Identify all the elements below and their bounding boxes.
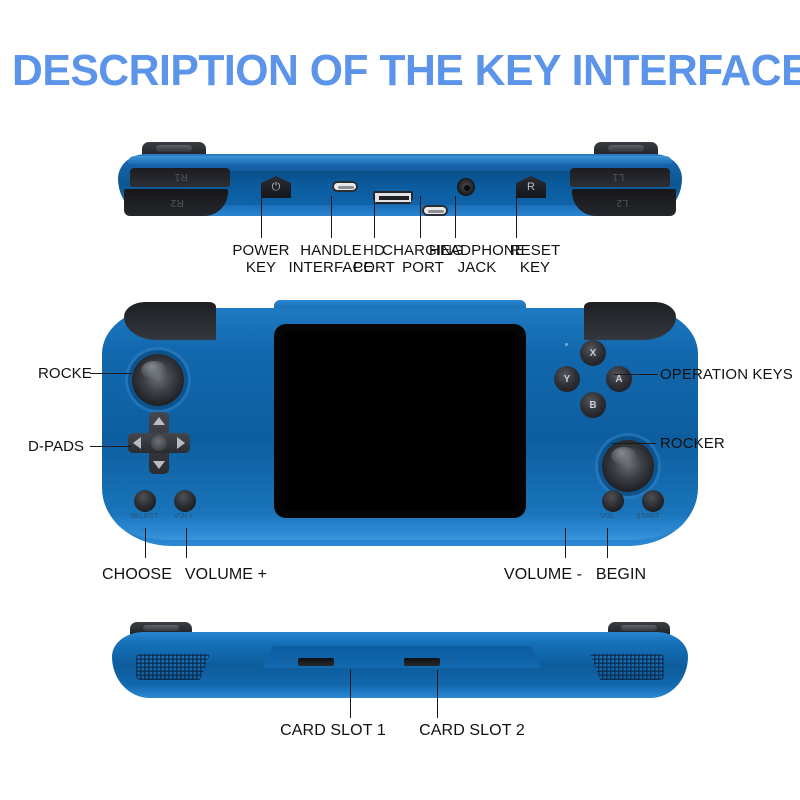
shoulder-label-l1: L1 bbox=[612, 171, 624, 182]
top-shell-body: R1 R2 L1 L2 ⏻ R bbox=[118, 154, 682, 216]
shoulder-group-left-side: L1 L2 bbox=[564, 168, 676, 216]
start-button[interactable] bbox=[642, 490, 664, 512]
dpad-right-icon[interactable] bbox=[177, 437, 185, 449]
callout-power-key-line2: KEY bbox=[232, 259, 289, 276]
shoulder-label-r2: R2 bbox=[170, 197, 184, 208]
button-a[interactable]: A bbox=[606, 366, 632, 392]
button-b[interactable]: B bbox=[580, 392, 606, 418]
leader-line-card-slot-2 bbox=[437, 670, 438, 718]
button-b-label: B bbox=[589, 400, 596, 411]
leader-line-reset-key bbox=[516, 196, 517, 238]
callout-reset-key: RESET KEY bbox=[510, 242, 561, 276]
callout-operation-keys: OPERATION KEYS bbox=[660, 366, 793, 383]
callout-volume-up: VOLUME + bbox=[185, 566, 267, 584]
callout-reset-key-line2: KEY bbox=[510, 259, 561, 276]
card-slot-1[interactable] bbox=[298, 658, 334, 666]
button-a-label: A bbox=[615, 374, 622, 385]
usb-c-icon-handle[interactable] bbox=[332, 181, 358, 192]
volume-down-button[interactable] bbox=[602, 490, 624, 512]
top-shell-band bbox=[128, 156, 672, 164]
screen[interactable] bbox=[282, 332, 518, 510]
left-speaker-grille-icon bbox=[136, 654, 210, 680]
callout-reset-key-line1: RESET bbox=[510, 242, 561, 259]
left-analog-stick[interactable] bbox=[132, 354, 184, 406]
select-button-caption: SELECT bbox=[130, 513, 159, 520]
shoulder-label-r1: R1 bbox=[174, 171, 188, 182]
reset-glyph: R bbox=[527, 182, 535, 193]
top-edge-view: R1 R2 L1 L2 ⏻ R bbox=[118, 142, 682, 224]
dpad-down-icon[interactable] bbox=[153, 461, 165, 469]
headphone-jack-icon[interactable] bbox=[457, 178, 475, 196]
indicator-led-icon bbox=[565, 343, 568, 346]
shoulder-label-l2: L2 bbox=[616, 197, 628, 208]
callout-dpad: D-PADS bbox=[28, 438, 84, 455]
leader-line-power-key bbox=[261, 196, 262, 238]
right-analog-stick[interactable] bbox=[602, 440, 654, 492]
front-shoulder-right bbox=[584, 302, 676, 340]
start-button-caption: START bbox=[636, 513, 660, 520]
front-view: X Y A B SELECT VOL+ VOL- START bbox=[102, 300, 698, 550]
volume-up-button-caption: VOL+ bbox=[174, 513, 193, 520]
dpad-center bbox=[151, 435, 167, 451]
button-x-label: X bbox=[590, 348, 597, 359]
leader-line-volume-down bbox=[565, 528, 566, 558]
dpad-left-icon[interactable] bbox=[133, 437, 141, 449]
bottom-edge-view: TF1 TF2 bbox=[112, 622, 688, 702]
card-slot-2[interactable] bbox=[404, 658, 440, 666]
callout-left-stick: ROCKE bbox=[38, 365, 92, 382]
leader-line-choose bbox=[145, 528, 146, 558]
callout-begin: BEGIN bbox=[596, 566, 646, 584]
leader-line-dpad bbox=[90, 446, 132, 447]
callout-card-slot-1: CARD SLOT 1 bbox=[280, 722, 386, 740]
leader-line-begin bbox=[607, 528, 608, 558]
callout-right-stick: ROCKER bbox=[660, 435, 725, 452]
page-title: DESCRIPTION OF THE KEY INTERFACE bbox=[12, 46, 788, 96]
key-interface-diagram: DESCRIPTION OF THE KEY INTERFACE R1 R2 L… bbox=[0, 0, 800, 800]
leader-line-handle-interface bbox=[331, 196, 332, 238]
shoulder-group-right-side: R1 R2 bbox=[124, 168, 236, 216]
leader-line-card-slot-1 bbox=[350, 670, 351, 718]
callout-card-slot-2: CARD SLOT 2 bbox=[419, 722, 525, 740]
dpad[interactable] bbox=[128, 412, 190, 474]
button-y-label: Y bbox=[564, 374, 571, 385]
front-shoulder-left bbox=[124, 302, 216, 340]
leader-line-headphone-jack bbox=[455, 196, 456, 238]
callout-power-key: POWER KEY bbox=[232, 242, 289, 276]
leader-line-charging-port bbox=[420, 196, 421, 238]
leader-line-right-stick bbox=[612, 443, 656, 444]
usb-c-icon-charging[interactable] bbox=[422, 205, 448, 216]
card-slot-1-micro-label: TF1 bbox=[280, 659, 291, 665]
callout-choose: CHOOSE bbox=[102, 566, 172, 584]
leader-line-operation-keys bbox=[614, 374, 658, 375]
callout-volume-down: VOLUME - bbox=[504, 566, 582, 584]
right-speaker-grille-icon bbox=[590, 654, 664, 680]
dpad-up-icon[interactable] bbox=[153, 417, 165, 425]
volume-up-button[interactable] bbox=[174, 490, 196, 512]
volume-down-button-caption: VOL- bbox=[600, 513, 618, 520]
callout-power-key-line1: POWER bbox=[232, 242, 289, 259]
button-y[interactable]: Y bbox=[554, 366, 580, 392]
hdmi-icon[interactable] bbox=[373, 191, 413, 204]
bottom-shell-body: TF1 TF2 bbox=[112, 632, 688, 698]
select-button[interactable] bbox=[134, 490, 156, 512]
leader-line-left-stick bbox=[90, 373, 132, 374]
button-x[interactable]: X bbox=[580, 340, 606, 366]
leader-line-hd-port bbox=[374, 196, 375, 238]
leader-line-volume-up bbox=[186, 528, 187, 558]
power-glyph: ⏻ bbox=[272, 182, 281, 193]
card-slot-2-micro-label: TF2 bbox=[444, 659, 455, 665]
